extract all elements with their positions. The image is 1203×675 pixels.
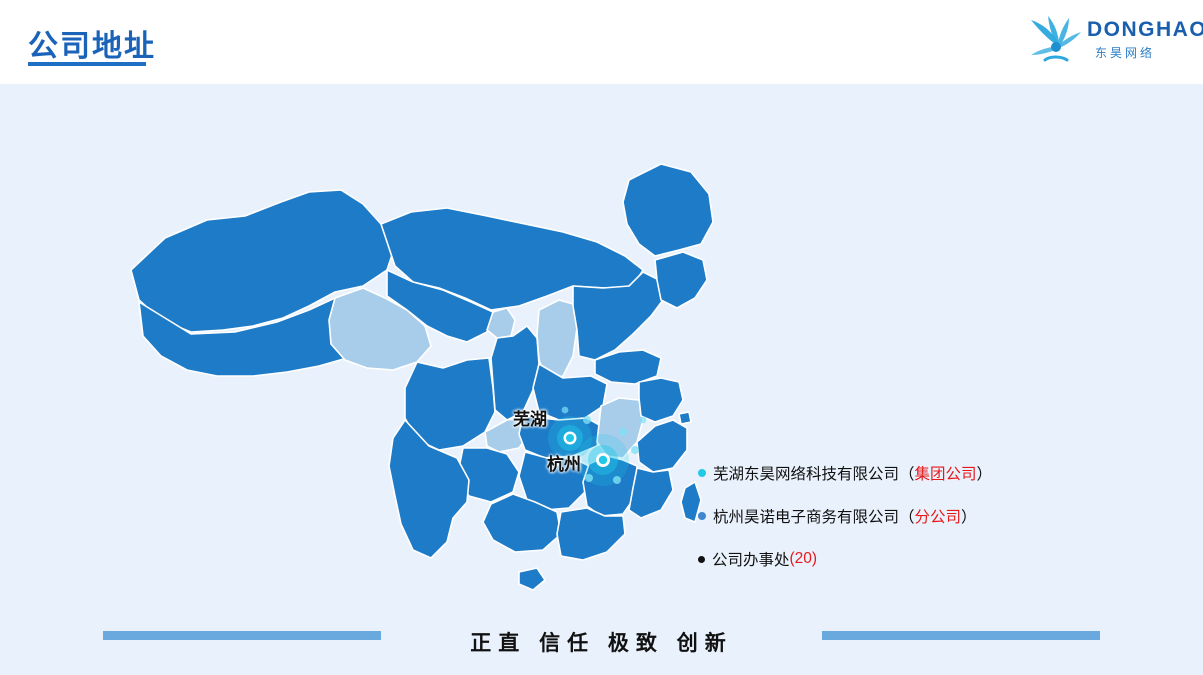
page-title: 公司地址 (28, 21, 156, 65)
legend-item-offices: 公司办事处 (20) (698, 548, 1128, 570)
donghao-logo: DONGHAO 东昊网络 (1025, 10, 1185, 72)
legend-tail-1: ） (977, 462, 993, 484)
logo-sub-text: 东昊网络 (1095, 44, 1155, 61)
legend-emphasis-2: 分公司 (915, 505, 962, 527)
legend-text-2: 杭州昊诺电子商务有限公司（ (713, 505, 915, 527)
legend-emphasis-3: (20) (790, 550, 818, 568)
legend-dot-black-icon (698, 556, 705, 563)
footer-slogan: 正直 信任 极致 创新 (0, 627, 1203, 657)
logo-mark-icon (1025, 14, 1083, 64)
logo-main-text: DONGHAO (1087, 18, 1203, 42)
china-map[interactable]: 芜湖 杭州 (95, 120, 715, 600)
legend-tail-2: ） (961, 505, 977, 527)
legend-item-group-company: 芜湖东昊网络科技有限公司（ 集团公司 ） (698, 462, 1128, 484)
legend-text-1: 芜湖东昊网络科技有限公司（ (713, 462, 915, 484)
title-underline (28, 62, 146, 66)
legend-item-branch-company: 杭州昊诺电子商务有限公司（ 分公司 ） (698, 505, 1128, 527)
map-label-hangzhou: 杭州 (547, 450, 581, 475)
legend: 芜湖东昊网络科技有限公司（ 集团公司 ） 杭州昊诺电子商务有限公司（ 分公司 ）… (698, 462, 1128, 591)
slide: 公司地址 DONGHAO 东昊网络 (0, 0, 1203, 675)
map-label-wuhu: 芜湖 (513, 405, 547, 430)
legend-emphasis-1: 集团公司 (915, 462, 977, 484)
legend-dot-cyan-icon (698, 469, 706, 477)
slide-header: 公司地址 DONGHAO 东昊网络 (0, 0, 1203, 84)
legend-dot-blue-icon (698, 512, 706, 520)
china-map-svg (95, 120, 715, 600)
legend-text-3: 公司办事处 (712, 548, 790, 570)
